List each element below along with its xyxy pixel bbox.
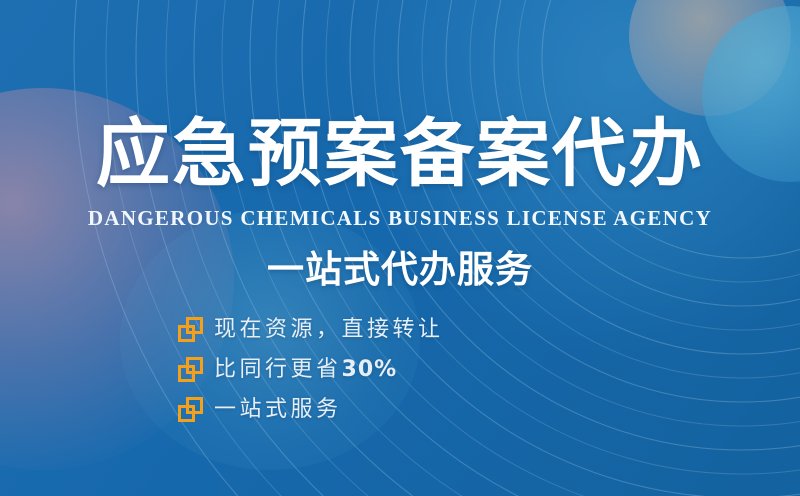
- promo-banner: 应急预案备案代办 DANGEROUS CHEMICALS BUSINESS LI…: [0, 0, 800, 496]
- double-square-icon: [178, 357, 203, 382]
- feature-label: 现在资源，直接转让: [214, 316, 444, 344]
- headline-title-en: DANGEROUS CHEMICALS BUSINESS LICENSE AGE…: [0, 206, 800, 230]
- feature-text: 现在资源，直接转让: [214, 317, 444, 342]
- headline-title-cn: 应急预案备案代办: [0, 112, 800, 196]
- headline-subtitle-cn: 一站式代办服务: [0, 248, 800, 292]
- banner-content: 应急预案备案代办 DANGEROUS CHEMICALS BUSINESS LI…: [0, 0, 800, 496]
- double-square-icon: [178, 397, 203, 422]
- list-item: 现在资源，直接转让: [178, 314, 444, 345]
- feature-label: 一站式服务: [214, 396, 342, 424]
- feature-text: 比同行更省: [214, 357, 342, 382]
- feature-label: 比同行更省30%: [214, 356, 397, 384]
- feature-highlight: 30%: [342, 357, 398, 382]
- list-item: 比同行更省30%: [178, 354, 444, 385]
- feature-list: 现在资源，直接转让 比同行更省30% 一站式服务: [178, 314, 444, 425]
- feature-text: 一站式服务: [214, 397, 342, 422]
- double-square-icon: [178, 317, 203, 342]
- list-item: 一站式服务: [178, 394, 444, 425]
